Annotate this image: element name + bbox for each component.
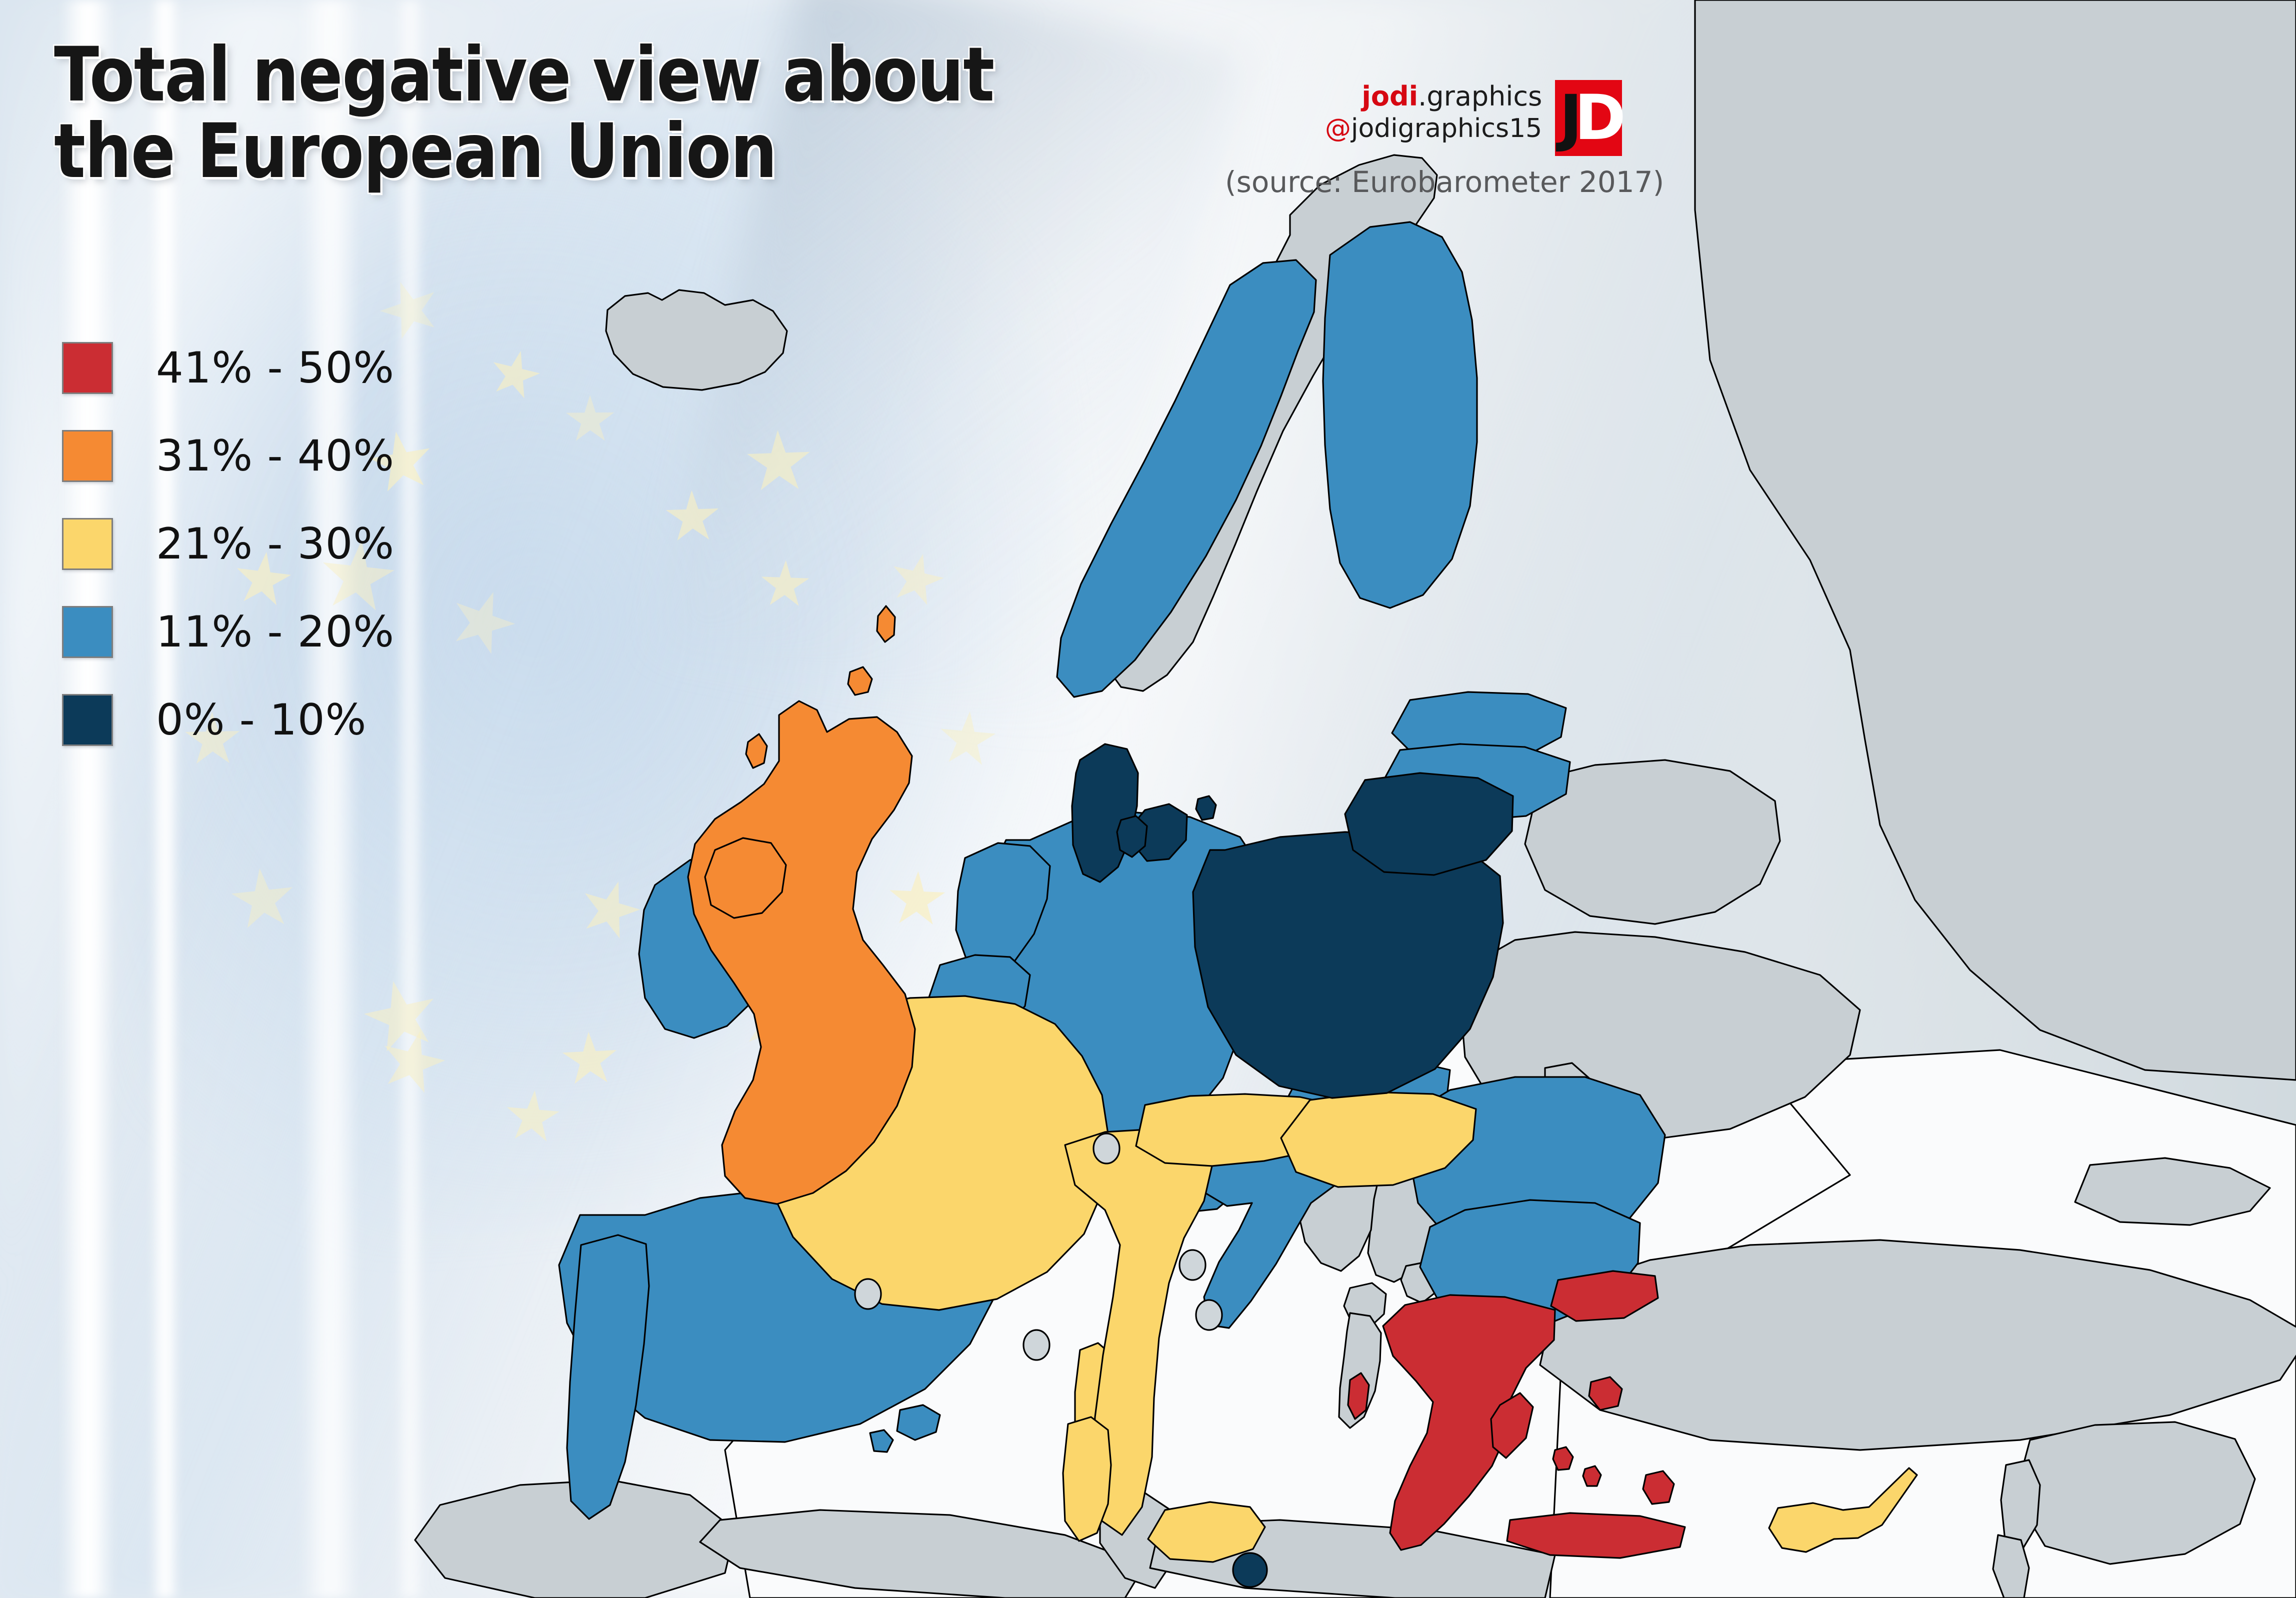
legend: 41% - 50%31% - 40%21% - 30%11% - 20%0% -…	[62, 324, 394, 764]
island-hebrides	[746, 734, 767, 768]
legend-label: 0% - 10%	[156, 695, 366, 745]
island-orkney	[848, 667, 872, 695]
microstate-monaco	[1023, 1330, 1049, 1360]
legend-swatch	[62, 606, 113, 658]
legend-row: 21% - 30%	[62, 500, 394, 588]
country-iceland	[606, 290, 787, 390]
legend-swatch	[62, 694, 113, 746]
brand-handle-at: @	[1325, 113, 1351, 143]
bin-31-40-countries	[688, 606, 915, 1204]
legend-row: 41% - 50%	[62, 324, 394, 412]
microstate-liechtenstein	[1093, 1133, 1119, 1163]
legend-swatch	[62, 518, 113, 570]
country-denmark-bornholm	[1196, 796, 1216, 820]
legend-row: 11% - 20%	[62, 588, 394, 676]
country-russia	[1695, 0, 2296, 1080]
legend-swatch	[62, 430, 113, 482]
country-lithuania	[1345, 773, 1513, 875]
country-great-britain	[688, 701, 915, 1204]
infographic-canvas: Total negative view about the European U…	[0, 0, 2296, 1598]
source-note: (source: Eurobarometer 2017)	[1225, 165, 1664, 199]
brand-site-red: jodi	[1361, 80, 1418, 112]
brand-site: jodi.graphics	[1325, 80, 1542, 113]
legend-label: 21% - 30%	[156, 519, 394, 569]
jd-logo: JD	[1555, 80, 1622, 156]
microstate-vatican	[1196, 1300, 1222, 1330]
legend-row: 0% - 10%	[62, 676, 394, 764]
brand-text: jodi.graphics @jodigraphics15	[1325, 80, 1542, 144]
legend-swatch	[62, 342, 113, 394]
brand-handle-rest: jodigraphics15	[1351, 113, 1542, 143]
country-portugal	[567, 1235, 649, 1519]
page-title: Total negative view about the European U…	[54, 37, 994, 190]
island-shetland	[877, 606, 895, 642]
country-finland	[1323, 222, 1477, 608]
brand-block: jodi.graphics @jodigraphics15 JD	[1325, 80, 1622, 156]
microstate-andorra	[855, 1279, 881, 1309]
logo-letter-d: D	[1574, 87, 1618, 149]
brand-handle: @jodigraphics15	[1325, 113, 1542, 144]
logo-letter-j: J	[1559, 87, 1574, 149]
legend-row: 31% - 40%	[62, 412, 394, 500]
jd-logo-glyphs: JD	[1555, 80, 1622, 156]
legend-label: 41% - 50%	[156, 343, 394, 393]
brand-site-rest: .graphics	[1418, 80, 1542, 112]
legend-label: 11% - 20%	[156, 607, 394, 657]
microstate-san-marino	[1179, 1250, 1205, 1280]
legend-label: 31% - 40%	[156, 431, 394, 481]
europe-choropleth-map	[0, 0, 2296, 1598]
country-malta	[1233, 1553, 1267, 1587]
